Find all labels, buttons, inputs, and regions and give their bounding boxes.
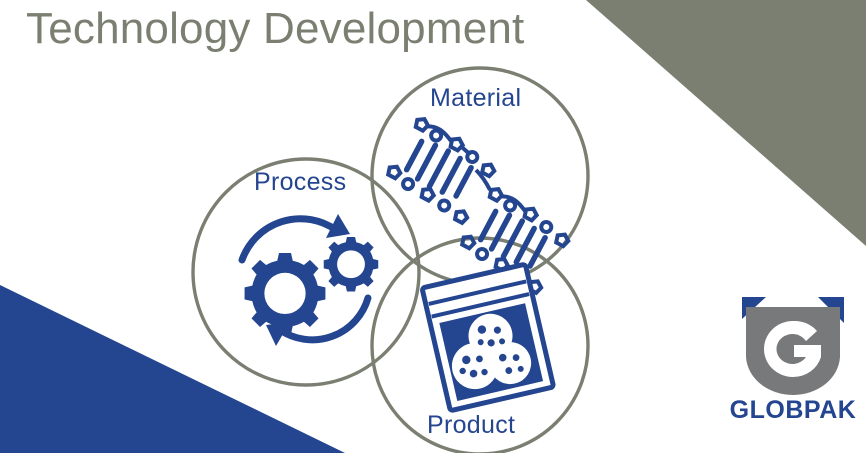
- slide-canvas: Technology Development: [0, 0, 866, 453]
- top-right-wedge-decoration: [586, 0, 866, 246]
- cookie-pouch-icon: [422, 264, 554, 411]
- globpak-logo: GLOBPAK: [728, 297, 858, 435]
- gears-cycle-icon: [242, 214, 378, 346]
- venn-label-process: Process: [254, 168, 346, 197]
- venn-diagram: Process Material Product: [190, 48, 610, 453]
- dna-helix-icon: [383, 115, 575, 294]
- globpak-logo-mark: [736, 297, 850, 395]
- venn-label-product: Product: [427, 411, 515, 440]
- globpak-wordmark: GLOBPAK: [728, 396, 858, 425]
- venn-label-material: Material: [430, 84, 521, 113]
- page-title: Technology Development: [26, 4, 524, 54]
